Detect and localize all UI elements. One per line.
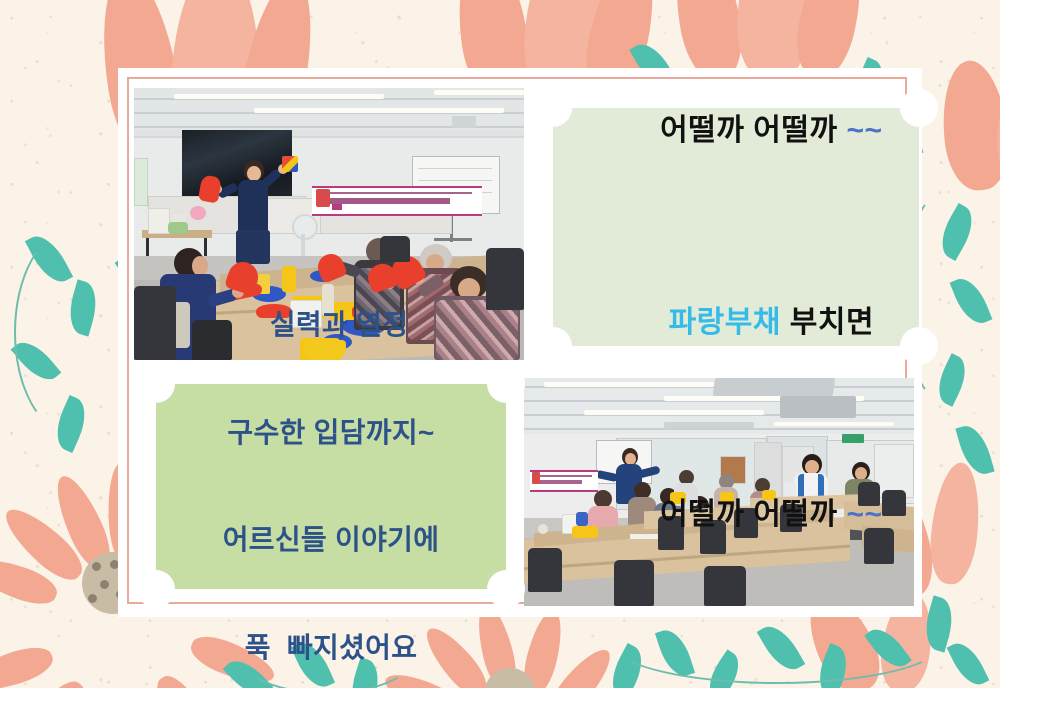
caption-segment-tilde: ~~	[846, 498, 882, 531]
flower-petal	[0, 641, 57, 688]
flower-petal	[937, 57, 1000, 193]
caption-praise-note: 실력과 열정 구수한 입담까지~ 어르신들 이야기에 푹 빠지셨어요	[156, 384, 506, 589]
caption-line: 어떨까 어떨까 ~~	[553, 73, 919, 188]
caption-song-lyrics: 빨강부채 부치면 어떨까 어떨까 ~~ 파랑부채 부치면 어떨까 어떨까 ~~	[553, 108, 919, 346]
caption-line: 어떨까 어떨까 ~~	[553, 457, 919, 572]
caption-text: 빨강부채 부치면 어떨까 어떨까 ~~ 파랑부채 부치면 어떨까 어떨까 ~~	[553, 0, 919, 649]
caption-line: 구수한 입담까지~	[156, 415, 506, 451]
caption-line: 어르신들 이야기에	[156, 522, 506, 558]
flower-center-dot	[92, 562, 101, 571]
caption-line: 파랑부채 부치면	[553, 265, 919, 380]
vine-stem	[14, 230, 128, 434]
caption-segment: 어떨까 어떨까	[660, 498, 846, 531]
caption-text: 실력과 열정 구수한 입담까지~ 어르신들 이야기에 푹 빠지셨어요	[156, 236, 506, 720]
caption-line: 실력과 열정	[156, 307, 506, 343]
caption-segment-blue: 파랑부채	[669, 306, 781, 339]
flower-petal	[926, 460, 985, 586]
caption-segment: 어떨까 어떨까	[660, 114, 846, 147]
caption-segment-tilde: ~~	[846, 114, 882, 147]
slide-canvas: 빨강부채 부치면 어떨까 어떨까 ~~ 파랑부채 부치면 어떨까 어떨까 ~~ …	[0, 0, 1040, 720]
leaf	[947, 637, 990, 688]
flower-center-dot	[88, 594, 97, 603]
caption-line: 푹 빠지셨어요	[156, 630, 506, 666]
flower-center-dot	[100, 580, 109, 589]
caption-segment: 부치면	[781, 306, 874, 339]
